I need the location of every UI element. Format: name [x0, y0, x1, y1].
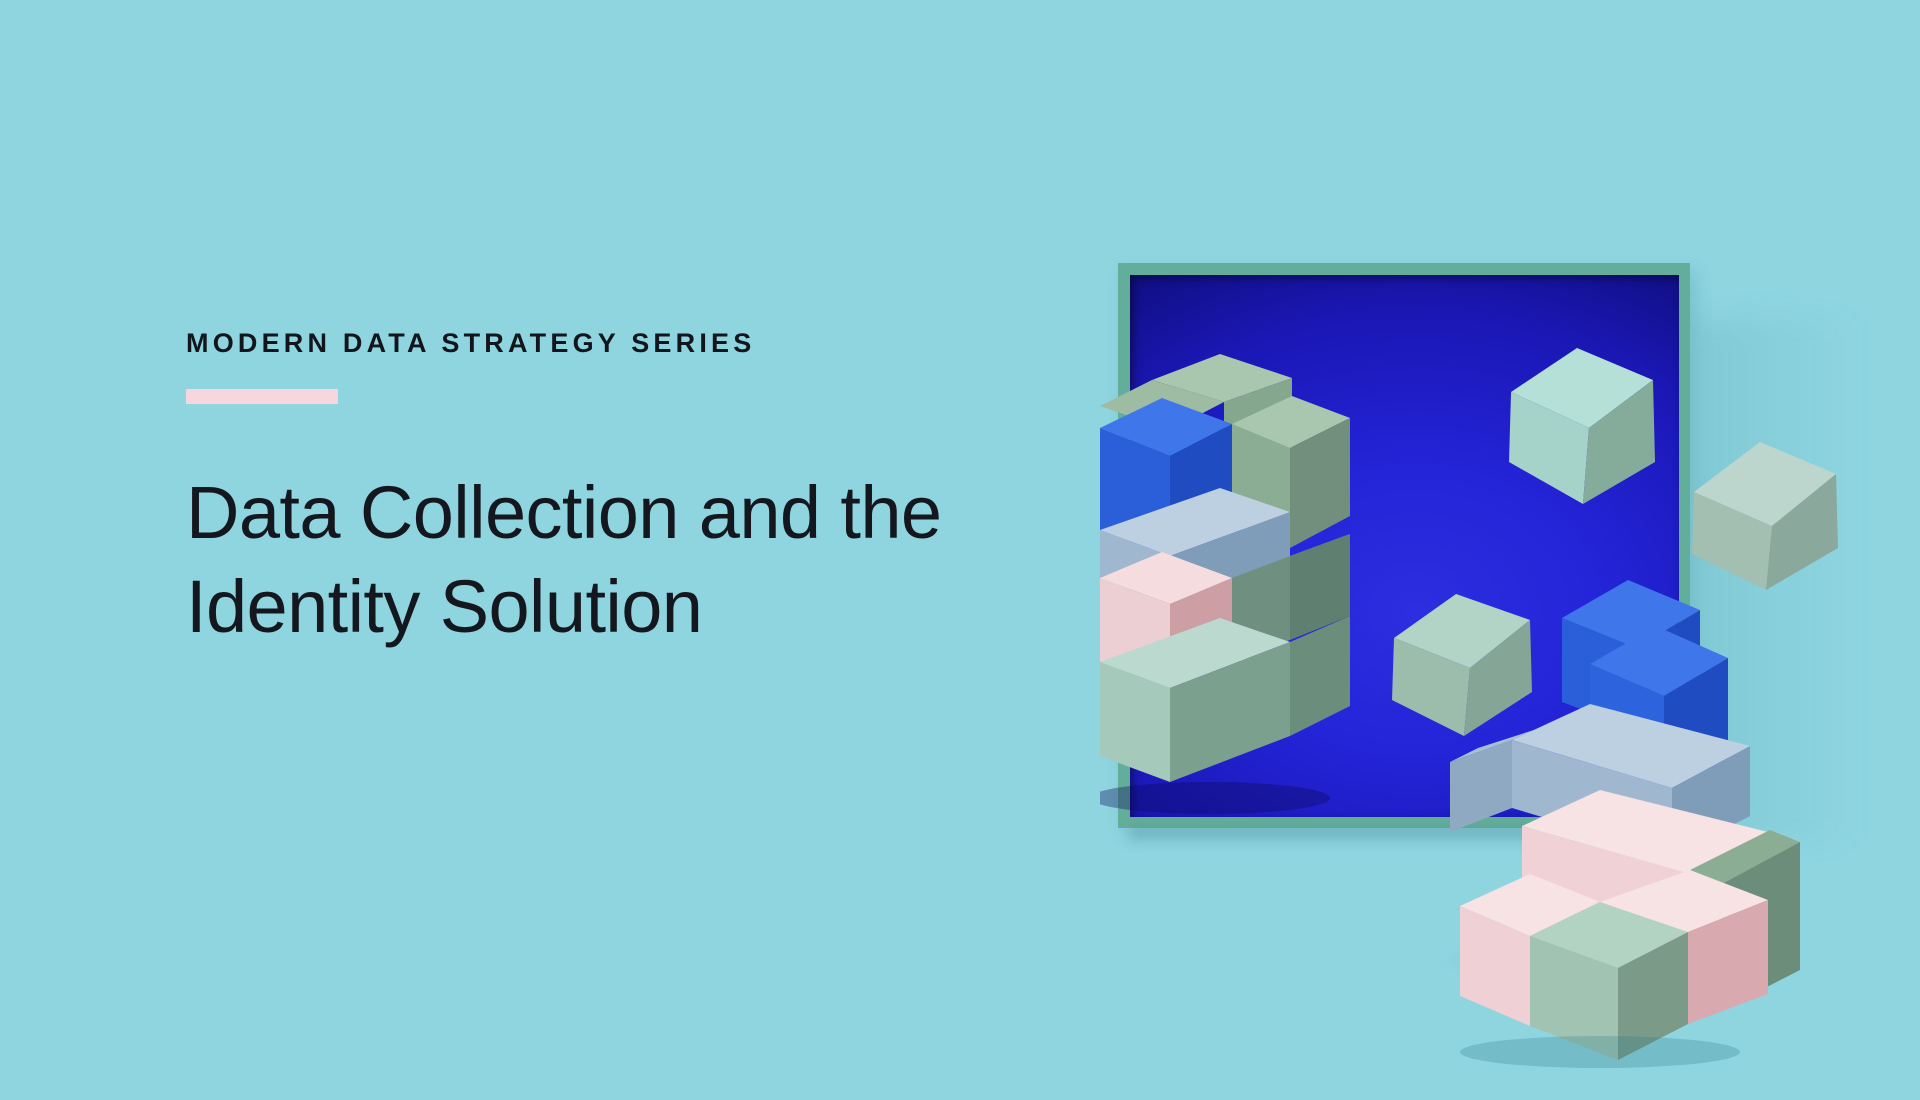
- slide-canvas: MODERN DATA STRATEGY SERIES Data Collect…: [0, 0, 1920, 1080]
- accent-rule-divider: [186, 389, 338, 404]
- page-title-line-2: Identity Solution: [186, 560, 1026, 654]
- hero-artwork: [1050, 200, 1920, 1080]
- page-title: Data Collection and the Identity Solutio…: [186, 404, 1026, 654]
- page-title-line-1: Data Collection and the: [186, 466, 1026, 560]
- right-cluster-stack: [1450, 540, 1880, 1100]
- left-tower-stack: [1100, 320, 1400, 880]
- title-text-block: MODERN DATA STRATEGY SERIES Data Collect…: [186, 330, 1026, 654]
- eyebrow-series-label: MODERN DATA STRATEGY SERIES: [186, 330, 1026, 357]
- floating-cube-top-mint: [1505, 340, 1665, 515]
